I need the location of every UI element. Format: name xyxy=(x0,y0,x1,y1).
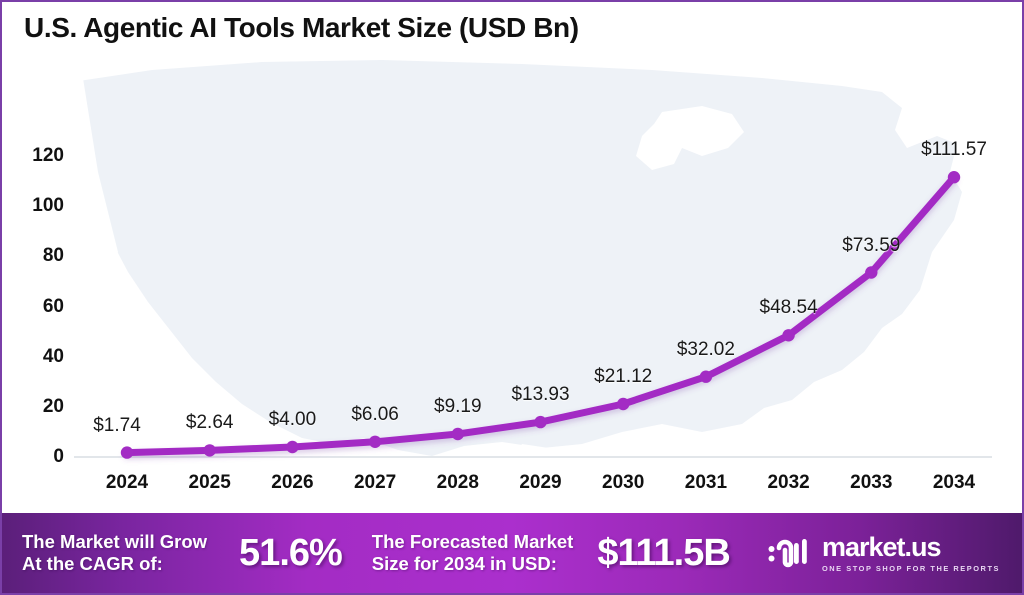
forecast-label: The Forecasted Market Size for 2034 in U… xyxy=(372,531,574,575)
forecast-label-line2: Size for 2034 in USD: xyxy=(372,553,574,575)
title-bar: U.S. Agentic AI Tools Market Size (USD B… xyxy=(2,2,1022,54)
data-point-marker xyxy=(286,441,298,453)
cagr-label: The Market will Grow At the CAGR of: xyxy=(22,531,207,575)
market-us-logo[interactable]: market.us ONE STOP SHOP FOR THE REPORTS xyxy=(767,534,1000,573)
market-us-logo-text: market.us ONE STOP SHOP FOR THE REPORTS xyxy=(822,534,1000,573)
x-axis-tick-label: 2025 xyxy=(189,472,231,494)
forecast-label-line1: The Forecasted Market xyxy=(372,531,574,553)
data-point-marker xyxy=(534,416,546,428)
y-axis-tick-label: 80 xyxy=(2,245,64,267)
data-point-label: $111.57 xyxy=(921,139,987,161)
cagr-value: 51.6% xyxy=(239,532,342,575)
series-line xyxy=(127,177,954,452)
y-axis-tick-label: 20 xyxy=(2,396,64,418)
forecast-value: $111.5B xyxy=(597,532,729,575)
y-axis-tick-label: 40 xyxy=(2,346,64,368)
y-axis-tick-label: 100 xyxy=(2,195,64,217)
data-point-label: $21.12 xyxy=(594,366,652,388)
footer-bar: The Market will Grow At the CAGR of: 51.… xyxy=(2,513,1022,593)
data-point-label: $1.74 xyxy=(93,415,141,437)
cagr-label-line1: The Market will Grow xyxy=(22,531,207,553)
data-point-marker xyxy=(121,446,133,458)
data-point-label: $48.54 xyxy=(760,297,818,319)
data-point-label: $13.93 xyxy=(511,384,569,406)
x-axis-tick-label: 2028 xyxy=(437,472,479,494)
y-axis-tick-label: 60 xyxy=(2,296,64,318)
x-axis-tick-label: 2026 xyxy=(271,472,313,494)
data-point-label: $2.64 xyxy=(186,412,234,434)
data-point-marker xyxy=(369,436,381,448)
page-title: U.S. Agentic AI Tools Market Size (USD B… xyxy=(24,12,579,44)
cagr-label-line2: At the CAGR of: xyxy=(22,553,207,575)
data-point-label: $73.59 xyxy=(842,235,900,257)
data-point-label: $32.02 xyxy=(677,339,735,361)
data-point-marker xyxy=(204,444,216,456)
data-point-marker xyxy=(700,371,712,383)
plot-region xyxy=(2,52,1022,514)
logo-wordmark: market.us xyxy=(822,534,1000,561)
x-axis-tick-label: 2031 xyxy=(685,472,727,494)
data-point-marker xyxy=(865,266,877,278)
x-axis-tick-label: 2027 xyxy=(354,472,396,494)
x-axis-tick-label: 2024 xyxy=(106,472,148,494)
x-axis-tick-label: 2029 xyxy=(519,472,561,494)
x-axis-tick-label: 2033 xyxy=(850,472,892,494)
line-chart-svg xyxy=(2,52,1022,514)
data-point-marker xyxy=(452,428,464,440)
x-axis-tick-label: 2034 xyxy=(933,472,975,494)
data-point-label: $9.19 xyxy=(434,396,482,418)
series-markers xyxy=(121,171,960,459)
market-us-logo-icon xyxy=(767,536,813,570)
y-axis-tick-label: 0 xyxy=(2,446,64,468)
x-axis-tick-label: 2032 xyxy=(767,472,809,494)
infographic-root: U.S. Agentic AI Tools Market Size (USD B… xyxy=(0,0,1024,595)
x-axis: 2024202520262027202820292030203120322033… xyxy=(2,472,1022,508)
data-point-marker xyxy=(782,329,794,341)
logo-tagline: ONE STOP SHOP FOR THE REPORTS xyxy=(822,564,1000,573)
x-axis-tick-label: 2030 xyxy=(602,472,644,494)
y-axis: 020406080100120 xyxy=(2,52,64,514)
data-point-label: $6.06 xyxy=(351,404,399,426)
data-point-marker xyxy=(948,171,960,183)
data-point-marker xyxy=(617,398,629,410)
y-axis-tick-label: 120 xyxy=(2,145,64,167)
data-point-label: $4.00 xyxy=(269,409,317,431)
